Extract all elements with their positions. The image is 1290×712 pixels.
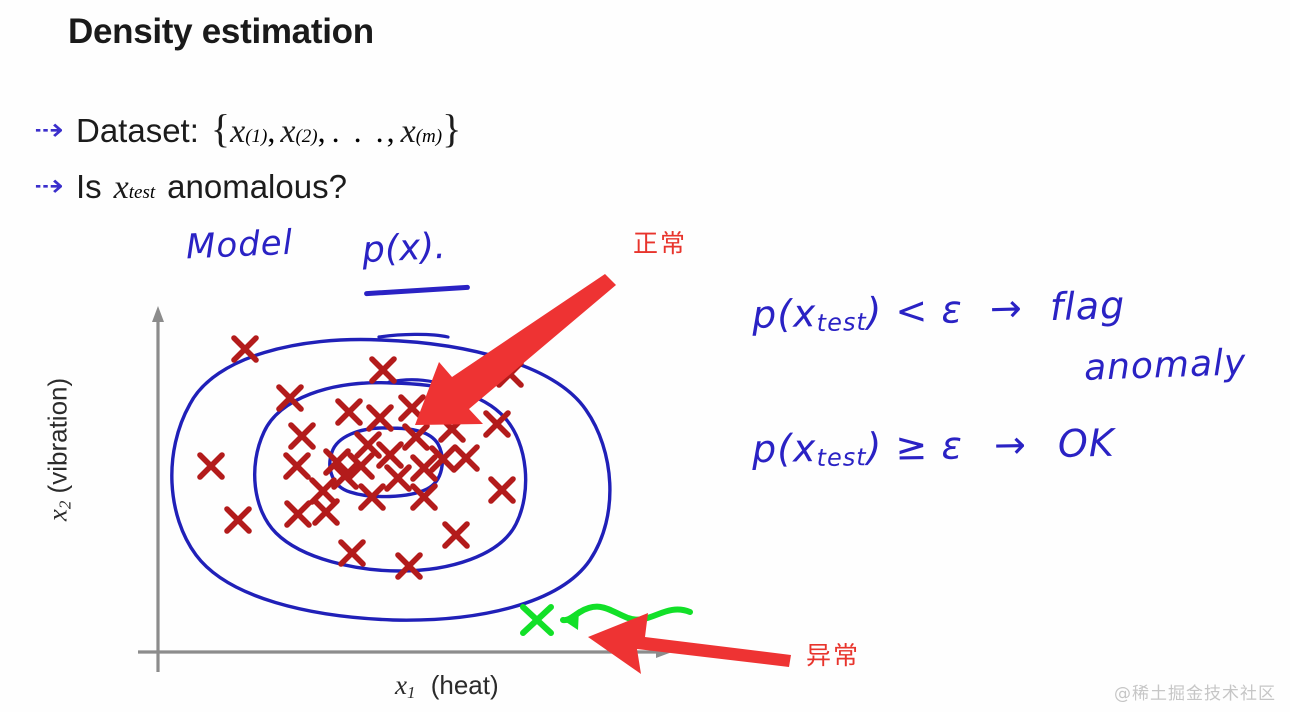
- x-axis-unit: (heat): [431, 670, 499, 700]
- y-axis-var: x2: [43, 501, 73, 521]
- handwritten-model-label: Model: [185, 223, 294, 268]
- math-ellipsis: . . .: [332, 113, 387, 150]
- eq1-lhs: p(x: [751, 291, 817, 337]
- math-xm: x: [401, 113, 416, 151]
- watermark: @稀土掘金技术社区: [1114, 679, 1276, 704]
- plot-label-layer: x2 (vibration) x1 (heat): [0, 285, 720, 685]
- eq2-arrow-icon: →: [994, 422, 1028, 467]
- bullet-is-label: Is: [76, 168, 102, 206]
- math-x2: x: [280, 113, 295, 151]
- math-close-brace: }: [442, 105, 461, 152]
- eq2-rel: ) ≥ ε: [866, 423, 963, 469]
- math-comma-1: ,: [267, 113, 275, 150]
- y-axis-unit: (vibration): [43, 378, 73, 494]
- eq1-sub: test: [816, 308, 867, 337]
- eq2-lhs: p(x: [752, 426, 817, 471]
- math-x1: x: [230, 113, 245, 151]
- handwritten-equation-anomaly-word: anomaly: [1083, 342, 1247, 389]
- handwritten-equation-flag-anomaly: p(xtest) < ε → flag: [751, 283, 1125, 339]
- x-axis-var: x1: [395, 670, 415, 700]
- eq1-arrow-icon: →: [989, 286, 1023, 331]
- handwritten-equation-ok: p(xtest) ≥ ε → OK: [752, 421, 1116, 473]
- x-axis-label: x1 (heat): [395, 670, 499, 703]
- arrow-bullet-icon: ⇢: [34, 115, 64, 146]
- eq2-rhs: OK: [1058, 421, 1116, 466]
- arrow-bullet-icon: ⇢: [34, 171, 64, 202]
- bullet-dataset-label: Dataset:: [76, 112, 199, 150]
- math-comma-2: ,: [318, 113, 326, 150]
- annotation-anomaly-label: 异常: [806, 636, 860, 672]
- annotation-normal-label: 正常: [633, 224, 687, 260]
- bullet-anomalous-question: ⇢ Is xtest anomalous?: [36, 168, 347, 207]
- eq1-rel: ) < ε: [866, 287, 963, 334]
- math-comma-3: ,: [387, 113, 395, 150]
- eq1-rhs: flag: [1049, 283, 1125, 329]
- y-axis-label: x2 (vibration): [43, 355, 76, 545]
- math-xtest-var: x: [114, 169, 129, 207]
- bullet-dataset: ⇢ Dataset: { x(1), x(2), . . ., x(m) }: [36, 105, 461, 152]
- math-open-brace: {: [211, 105, 230, 152]
- handwritten-px-label: p(x).: [361, 226, 447, 271]
- slide-canvas: Density estimation ⇢ Dataset: { x(1), x(…: [0, 0, 1290, 712]
- eq2-sub: test: [816, 443, 867, 472]
- page-title: Density estimation: [68, 12, 374, 52]
- bullet-anomalous-label: anomalous?: [167, 168, 347, 206]
